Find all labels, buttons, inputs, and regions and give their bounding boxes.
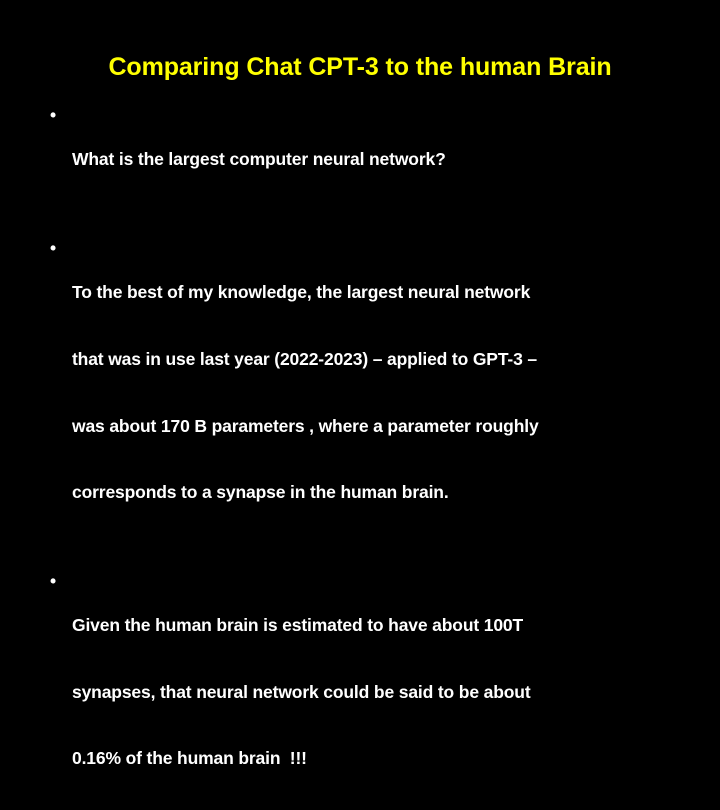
bullet-line: corresponds to a synapse in the human br… (72, 481, 686, 503)
bullet-line: synapses, that neural network could be s… (72, 681, 686, 703)
bullet-line: was about 170 B parameters , where a par… (72, 415, 686, 437)
bullet-line: To the best of my knowledge, the largest… (72, 281, 686, 303)
bullet-item-answer: • To the best of my knowledge, the large… (46, 237, 686, 548)
page-title: Comparing Chat CPT-3 to the human Brain (0, 52, 720, 82)
bullet-text: What is the largest computer neural netw… (72, 104, 686, 215)
bullet-line: 0.16% of the human brain !!! (72, 747, 686, 769)
bullet-line: that was in use last year (2022-2023) – … (72, 348, 686, 370)
bullet-line: What is the largest computer neural netw… (72, 148, 686, 170)
slide-body: • What is the largest computer neural ne… (46, 104, 686, 810)
bullet-item-comparison: • Given the human brain is estimated to … (46, 570, 686, 810)
bullet-item-question: • What is the largest computer neural ne… (46, 104, 686, 215)
bullet-text: Given the human brain is estimated to ha… (72, 570, 686, 810)
presentation-slide: Comparing Chat CPT-3 to the human Brain … (0, 0, 720, 405)
bullet-point-icon: • (50, 104, 64, 126)
bullet-point-icon: • (50, 237, 64, 259)
bullet-line: Given the human brain is estimated to ha… (72, 614, 686, 636)
bullet-text: To the best of my knowledge, the largest… (72, 237, 686, 548)
bullet-point-icon: • (50, 570, 64, 592)
